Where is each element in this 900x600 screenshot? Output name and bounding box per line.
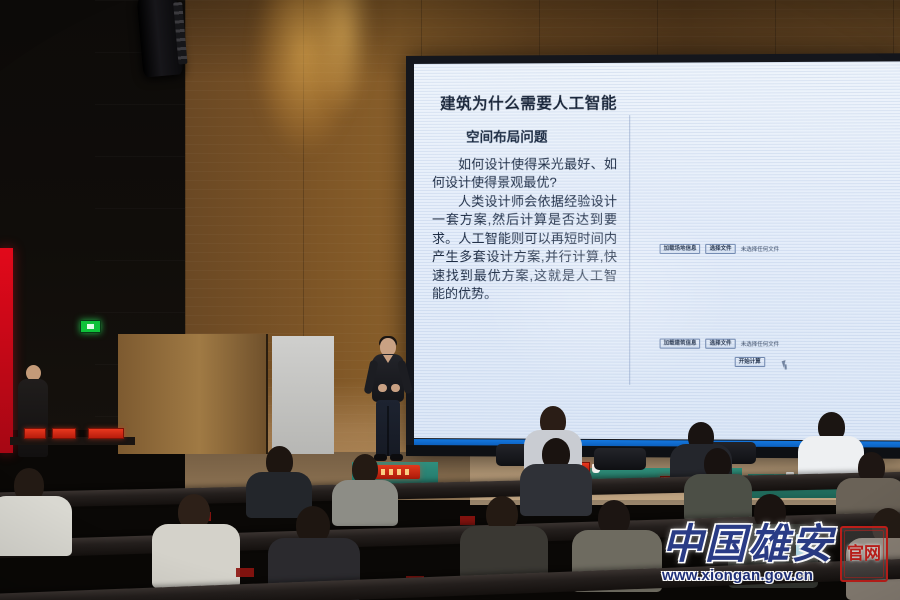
- load-site-info-button[interactable]: 加载场地信息: [660, 244, 701, 254]
- slide-body-text: 如何设计使得采光最好、如何设计使得景观最优? 人类设计师会依据经验设计一套方案,…: [432, 155, 617, 303]
- slide-surface: 建筑为什么需要人工智能 空间布局问题 如何设计使得采光最好、如何设计使得景观最优…: [414, 61, 900, 440]
- site-file-status: 未选择任何文件: [741, 245, 779, 253]
- mouse-cursor-icon: [782, 359, 791, 368]
- emergency-exit-sign: [80, 320, 101, 333]
- watermark-url: www.xiongan.gov.cn: [662, 567, 834, 584]
- slide-subtitle: 空间布局问题: [466, 125, 547, 145]
- wall-light-wash-secondary: [296, 0, 392, 199]
- slide-paragraph: 如何设计使得采光最好、如何设计使得景观最优?: [432, 155, 617, 192]
- audience-body: [684, 474, 752, 522]
- audience-body: [0, 496, 72, 556]
- lecture-hall-photo: 建筑为什么需要人工智能 空间布局问题 如何设计使得采光最好、如何设计使得景观最优…: [0, 0, 900, 600]
- audience-body: [332, 480, 398, 526]
- slide-title: 建筑为什么需要人工智能: [440, 91, 617, 114]
- watermark: 中国雄安 www.xiongan.gov.cn 官网: [662, 524, 834, 584]
- line-array-speaker-icon: [137, 0, 184, 78]
- audience-body: [520, 464, 592, 516]
- seat-number-plate: [236, 568, 254, 577]
- load-building-info-button[interactable]: 加载建筑信息: [660, 339, 701, 350]
- watermark-brand: 中国雄安: [662, 524, 834, 565]
- building-choose-file-button[interactable]: 选择文件: [706, 339, 736, 350]
- watermark-official-seal: 官网: [840, 526, 888, 582]
- building-file-status: 未选择任何文件: [741, 340, 779, 348]
- projection-screen: 建筑为什么需要人工智能 空间布局问题 如何设计使得采光最好、如何设计使得景观最优…: [406, 53, 900, 458]
- slide-column-divider: [629, 115, 630, 385]
- red-wall-banner: [0, 248, 13, 453]
- seat-number-plate: [460, 516, 475, 525]
- site-info-control-row: 加载场地信息 选择文件 未选择任何文件: [660, 244, 780, 255]
- compute-control-row: 开始计算: [735, 357, 765, 368]
- building-info-control-row: 加载建筑信息 选择文件 未选择任何文件: [660, 339, 780, 350]
- start-calculation-button[interactable]: 开始计算: [735, 357, 765, 368]
- auditorium-chair: [594, 448, 646, 470]
- audience-body: [152, 524, 240, 588]
- site-choose-file-button[interactable]: 选择文件: [706, 244, 736, 255]
- slide-paragraph: 人类设计师会依据经验设计一套方案,然后计算是否达到要求。人工智能则可以再短时间内…: [432, 193, 617, 304]
